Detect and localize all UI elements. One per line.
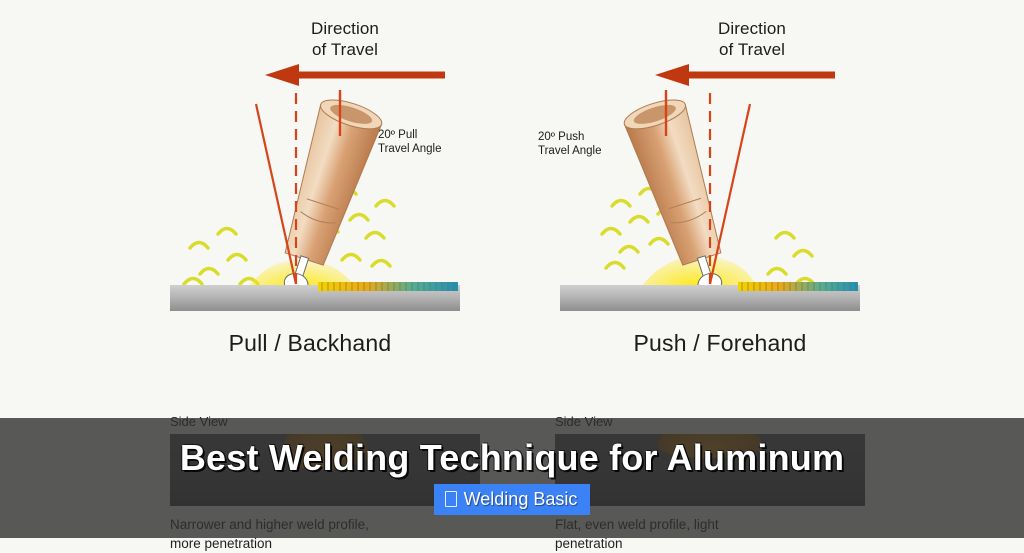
left-arrow-icon xyxy=(265,64,445,86)
direction-line-2: of Travel xyxy=(652,39,852,60)
category-badge[interactable]: Welding Basic xyxy=(434,484,591,515)
welding-torch-nozzle xyxy=(170,88,410,303)
left-arrow-icon xyxy=(655,64,835,86)
caption-push-forehand: Push / Forehand xyxy=(520,330,920,357)
illustration-stage: Direction of Travel 20º Pull Travel Angl… xyxy=(0,0,1024,538)
diagram-pull-backhand: Direction of Travel 20º Pull Travel Angl… xyxy=(110,0,510,418)
direction-of-travel-label: Direction of Travel xyxy=(245,18,445,60)
caption-pull-backhand: Pull / Backhand xyxy=(110,330,510,357)
direction-of-travel-label: Direction of Travel xyxy=(652,18,852,60)
direction-line-1: Direction xyxy=(652,18,852,39)
diagram-push-forehand: Direction of Travel 20º Push Travel Angl… xyxy=(520,0,920,418)
direction-line-2: of Travel xyxy=(245,39,445,60)
base-metal-plate xyxy=(560,280,860,315)
missing-glyph-box-icon xyxy=(445,491,457,507)
weld-bead-ripples xyxy=(738,282,858,291)
badge-container: Welding Basic xyxy=(0,484,1024,515)
page-title: Best Welding Technique for Aluminum xyxy=(0,437,1024,479)
base-metal-plate xyxy=(170,280,460,315)
weld-bead-ripples xyxy=(318,282,458,291)
category-badge-label: Welding Basic xyxy=(464,488,578,510)
welding-torch-nozzle xyxy=(590,88,830,303)
direction-line-1: Direction xyxy=(245,18,445,39)
